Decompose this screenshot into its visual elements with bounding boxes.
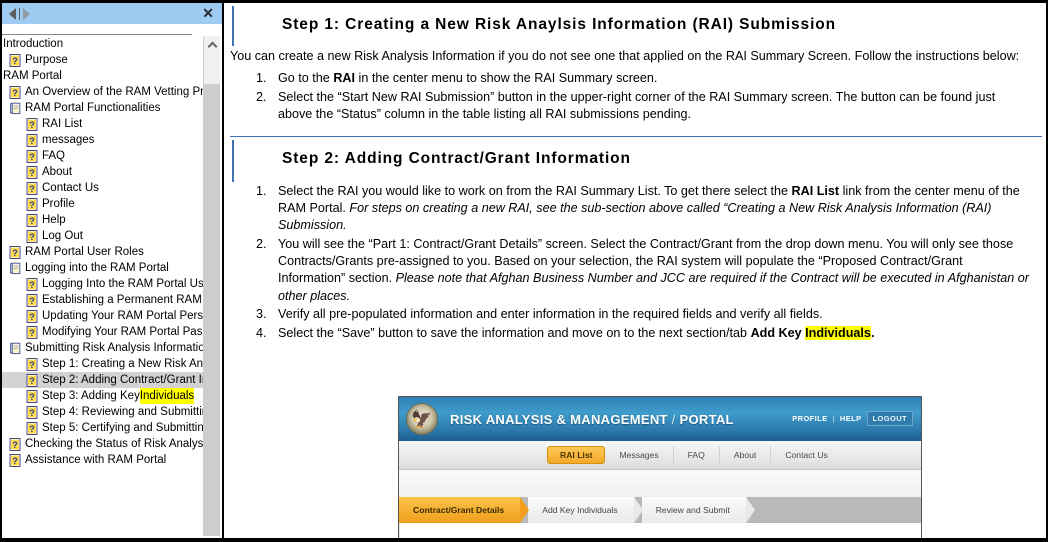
- tree-item[interactable]: ?FAQ: [2, 148, 205, 164]
- svg-text:?: ?: [29, 296, 35, 306]
- help-navigation-pane: ✕ Introduction?PurposeRAM Portal?An Over…: [2, 3, 224, 538]
- tree-item-label: Profile: [42, 196, 75, 212]
- svg-text:?: ?: [29, 408, 35, 418]
- tree-item[interactable]: ?Step 1: Creating a New Risk Anayl: [2, 356, 205, 372]
- instruction-text: .: [871, 326, 875, 340]
- svg-text:?: ?: [29, 424, 35, 434]
- step2-instruction-list: Select the RAI you would like to work on…: [226, 183, 1046, 342]
- help-topic-tree[interactable]: Introduction?PurposeRAM Portal?An Overvi…: [2, 36, 205, 538]
- section-step-2: Step 2: Adding Contract/Grant Informatio…: [226, 137, 1046, 342]
- svg-text:?: ?: [29, 376, 35, 386]
- tree-item-label: Log Out: [42, 228, 83, 244]
- step2-accent-bar: [232, 140, 234, 182]
- svg-text:?: ?: [29, 328, 35, 338]
- portal-nav-tab[interactable]: Messages: [605, 446, 673, 464]
- tree-top-divider: [2, 34, 192, 35]
- tree-item[interactable]: ?Step 5: Certifying and Submitting F: [2, 420, 205, 436]
- tree-item-label: Assistance with RAM Portal: [25, 452, 166, 468]
- instruction-text: Verify all pre-populated information and…: [278, 307, 823, 321]
- svg-text:?: ?: [29, 312, 35, 322]
- help-content-pane: Step 1: Creating a New Risk Anaylsis Inf…: [226, 3, 1046, 538]
- tree-item[interactable]: Logging into the RAM Portal: [2, 260, 205, 276]
- tree-item-label: RAM Portal Functionalities: [25, 100, 161, 116]
- help-topic-icon: ?: [26, 278, 39, 291]
- scroll-up-button[interactable]: [204, 36, 220, 53]
- tree-item-label: RAM Portal: [3, 68, 62, 84]
- help-topic-icon: ?: [26, 134, 39, 147]
- portal-wizard-tab[interactable]: Add Key Individuals: [528, 497, 633, 523]
- tree-item[interactable]: Submitting Risk Analysis Information (F: [2, 340, 205, 356]
- instruction-text: in the center menu to show the RAI Summa…: [355, 71, 657, 85]
- links-separator: |: [833, 414, 835, 423]
- tree-item-label: FAQ: [42, 148, 65, 164]
- tree-item[interactable]: ?Step 2: Adding Contract/Grant Info: [2, 372, 205, 388]
- help-viewer-window: ✕ Introduction?PurposeRAM Portal?An Over…: [0, 0, 1048, 542]
- svg-text:?: ?: [29, 184, 35, 194]
- tree-item[interactable]: ?Logging Into the RAM Portal Using: [2, 276, 205, 292]
- help-topic-icon: ?: [26, 390, 39, 403]
- portal-header-bar: 🦅 RISK ANALYSIS & MANAGEMENT / PORTAL PR…: [399, 397, 921, 441]
- tree-item[interactable]: ?RAI List: [2, 116, 205, 132]
- chevron-up-icon: [207, 41, 217, 51]
- tree-item-label: Step 1: Creating a New Risk Anayl: [42, 356, 205, 372]
- tree-item-label: Submitting Risk Analysis Information (F: [25, 340, 205, 356]
- help-topic-icon: ?: [26, 310, 39, 323]
- book-icon: [9, 342, 22, 355]
- tree-item-label: RAM Portal User Roles: [25, 244, 144, 260]
- portal-nav-tab[interactable]: Contact Us: [771, 446, 842, 464]
- portal-brand-title: RISK ANALYSIS & MANAGEMENT / PORTAL: [450, 412, 734, 427]
- help-topic-icon: ?: [9, 86, 22, 99]
- svg-text:?: ?: [29, 200, 35, 210]
- instruction-item: Select the “Start New RAI Submission” bu…: [270, 89, 1032, 124]
- svg-text:?: ?: [29, 136, 35, 146]
- back-arrow-icon[interactable]: [9, 8, 16, 20]
- help-topic-icon: ?: [26, 422, 39, 435]
- portal-brand-sub: PORTAL: [680, 412, 734, 427]
- tree-item[interactable]: ?RAM Portal User Roles: [2, 244, 205, 260]
- instruction-item: Go to the RAI in the center menu to show…: [270, 70, 1032, 87]
- tree-item-label: messages: [42, 132, 94, 148]
- tree-item[interactable]: ?About: [2, 164, 205, 180]
- portal-header-links: PROFILE | HELP LOGOUT: [792, 411, 913, 426]
- svg-text:?: ?: [29, 152, 35, 162]
- help-link[interactable]: HELP: [840, 414, 862, 423]
- help-topic-icon: ?: [26, 118, 39, 131]
- tree-item[interactable]: ?Checking the Status of Risk Analysis In: [2, 436, 205, 452]
- portal-brand-main: RISK ANALYSIS & MANAGEMENT: [450, 412, 668, 427]
- portal-main-nav: RAI ListMessagesFAQAboutContact Us: [399, 441, 921, 470]
- tree-item[interactable]: RAM Portal: [2, 68, 205, 84]
- book-icon: [9, 262, 22, 275]
- instruction-text: For steps on creating a new RAI, see the…: [278, 201, 992, 232]
- tree-item-label: Introduction: [3, 36, 63, 52]
- help-pane-titlebar: ✕: [2, 3, 222, 25]
- tree-item-label: An Overview of the RAM Vetting Proces: [25, 84, 205, 100]
- highlighted-term: Individuals: [805, 326, 871, 340]
- step1-intro: You can create a new Risk Analysis Infor…: [226, 44, 1046, 65]
- tree-scrollbar[interactable]: [203, 36, 220, 536]
- tree-item[interactable]: ?Modifying Your RAM Portal Passw: [2, 324, 205, 340]
- tree-item[interactable]: ?Assistance with RAM Portal: [2, 452, 205, 468]
- tree-item-label: Step 4: Reviewing and Submitting F: [42, 404, 205, 420]
- tree-item[interactable]: ?Profile: [2, 196, 205, 212]
- tree-item[interactable]: ?Updating Your RAM Portal Personа: [2, 308, 205, 324]
- svg-text:?: ?: [29, 168, 35, 178]
- svg-text:?: ?: [12, 456, 18, 466]
- logout-button[interactable]: LOGOUT: [867, 411, 913, 426]
- tree-item-label: Step 5: Certifying and Submitting F: [42, 420, 205, 436]
- instruction-text: Add Key: [751, 326, 806, 340]
- tree-item-label: Logging Into the RAM Portal Using: [42, 276, 205, 292]
- step2-title: Step 2: Adding Contract/Grant Informatio…: [234, 137, 1046, 178]
- step1-accent-bar: [232, 6, 234, 46]
- tree-item[interactable]: ?Establishing a Permanent RAM Po: [2, 292, 205, 308]
- tree-item-label: Step 2: Adding Contract/Grant Info: [42, 372, 205, 388]
- portal-content-strip: [399, 523, 921, 538]
- instruction-item: Verify all pre-populated information and…: [270, 306, 1032, 323]
- help-topic-icon: ?: [26, 406, 39, 419]
- portal-nav-tab[interactable]: FAQ: [674, 446, 720, 464]
- svg-text:?: ?: [29, 392, 35, 402]
- tree-item[interactable]: ?Contact Us: [2, 180, 205, 196]
- tree-item[interactable]: RAM Portal Functionalities: [2, 100, 205, 116]
- svg-text:?: ?: [29, 280, 35, 290]
- portal-body: Contract/Grant DetailsAdd Key Individual…: [399, 470, 921, 538]
- step1-heading-wrap: Step 1: Creating a New Risk Anaylsis Inf…: [226, 3, 1046, 44]
- tree-item-label: Logging into the RAM Portal: [25, 260, 169, 276]
- help-topic-icon: ?: [26, 358, 39, 371]
- portal-nav-tab[interactable]: About: [720, 446, 771, 464]
- instruction-text: Select the RAI you would like to work on…: [278, 184, 792, 198]
- tree-item[interactable]: ?An Overview of the RAM Vetting Proces: [2, 84, 205, 100]
- help-topic-icon: ?: [26, 150, 39, 163]
- portal-wizard-tab[interactable]: Review and Submit: [642, 497, 746, 523]
- tree-item[interactable]: ?Purpose: [2, 52, 205, 68]
- portal-wizard-tab[interactable]: Contract/Grant Details: [399, 497, 520, 523]
- svg-text:?: ?: [29, 232, 35, 242]
- tree-item[interactable]: ?Log Out: [2, 228, 205, 244]
- tree-item[interactable]: Introduction: [2, 36, 205, 52]
- portal-nav-tab[interactable]: RAI List: [547, 446, 605, 464]
- portal-brand-separator: /: [668, 412, 680, 427]
- tree-item-label: Purpose: [25, 52, 68, 68]
- tree-item-label: Step 3: Adding Key: [42, 388, 140, 404]
- embedded-portal-screenshot: 🦅 RISK ANALYSIS & MANAGEMENT / PORTAL PR…: [398, 396, 922, 538]
- help-topic-icon: ?: [9, 438, 22, 451]
- help-topic-icon: ?: [26, 214, 39, 227]
- help-topic-icon: ?: [26, 182, 39, 195]
- tree-item-highlight: Individuals: [140, 388, 194, 404]
- instruction-item: You will see the “Part 1: Contract/Grant…: [270, 236, 1032, 306]
- tree-item-label: Checking the Status of Risk Analysis In: [25, 436, 205, 452]
- instruction-text: Select the “Save” button to save the inf…: [278, 326, 751, 340]
- instruction-text: RAI List: [792, 184, 840, 198]
- help-topic-icon: ?: [9, 246, 22, 259]
- instruction-text: Go to the: [278, 71, 333, 85]
- svg-text:?: ?: [29, 216, 35, 226]
- svg-text:?: ?: [12, 88, 18, 98]
- svg-text:?: ?: [29, 360, 35, 370]
- tree-item-label: Contact Us: [42, 180, 99, 196]
- step1-instruction-list: Go to the RAI in the center menu to show…: [226, 70, 1046, 123]
- step1-title: Step 1: Creating a New Risk Anaylsis Inf…: [234, 3, 1046, 44]
- close-icon[interactable]: ✕: [202, 5, 214, 22]
- eagle-glyph: 🦅: [411, 411, 432, 428]
- instruction-text: Select the “Start New RAI Submission” bu…: [278, 90, 995, 121]
- step2-heading-wrap: Step 2: Adding Contract/Grant Informatio…: [226, 137, 1046, 178]
- svg-text:?: ?: [12, 440, 18, 450]
- portal-wizard-tabs: Contract/Grant DetailsAdd Key Individual…: [399, 497, 921, 523]
- svg-text:?: ?: [29, 120, 35, 130]
- tree-item-label: Modifying Your RAM Portal Passw: [42, 324, 205, 340]
- tree-item[interactable]: ?Step 3: Adding Key Individuals: [2, 388, 205, 404]
- help-topic-icon: ?: [9, 454, 22, 467]
- help-topic-icon: ?: [26, 294, 39, 307]
- navigation-arrows: [9, 8, 30, 20]
- nav-divider: [19, 8, 20, 20]
- tree-item-label: RAI List: [42, 116, 82, 132]
- tree-item[interactable]: ?Help: [2, 212, 205, 228]
- profile-link[interactable]: PROFILE: [792, 414, 827, 423]
- help-topic-icon: ?: [26, 326, 39, 339]
- us-department-of-state-seal-icon: 🦅: [406, 403, 438, 435]
- instruction-item: Select the “Save” button to save the inf…: [270, 325, 1032, 342]
- help-topic-icon: ?: [26, 374, 39, 387]
- scrollbar-thumb[interactable]: [204, 84, 220, 536]
- help-topic-icon: ?: [26, 198, 39, 211]
- tree-item-label: Help: [42, 212, 66, 228]
- help-topic-icon: ?: [26, 230, 39, 243]
- tree-item[interactable]: ?Step 4: Reviewing and Submitting F: [2, 404, 205, 420]
- tree-item[interactable]: ?messages: [2, 132, 205, 148]
- forward-arrow-icon[interactable]: [23, 8, 30, 20]
- tree-item-label: About: [42, 164, 72, 180]
- instruction-text: RAI: [333, 71, 355, 85]
- tree-item-label: Establishing a Permanent RAM Po: [42, 292, 205, 308]
- instruction-item: Select the RAI you would like to work on…: [270, 183, 1032, 235]
- book-icon: [9, 102, 22, 115]
- svg-text:?: ?: [12, 248, 18, 258]
- help-topic-icon: ?: [26, 166, 39, 179]
- help-topic-icon: ?: [9, 54, 22, 67]
- tree-item-label: Updating Your RAM Portal Personа: [42, 308, 205, 324]
- svg-text:?: ?: [12, 56, 18, 66]
- section-step-1: Step 1: Creating a New Risk Anaylsis Inf…: [226, 3, 1046, 124]
